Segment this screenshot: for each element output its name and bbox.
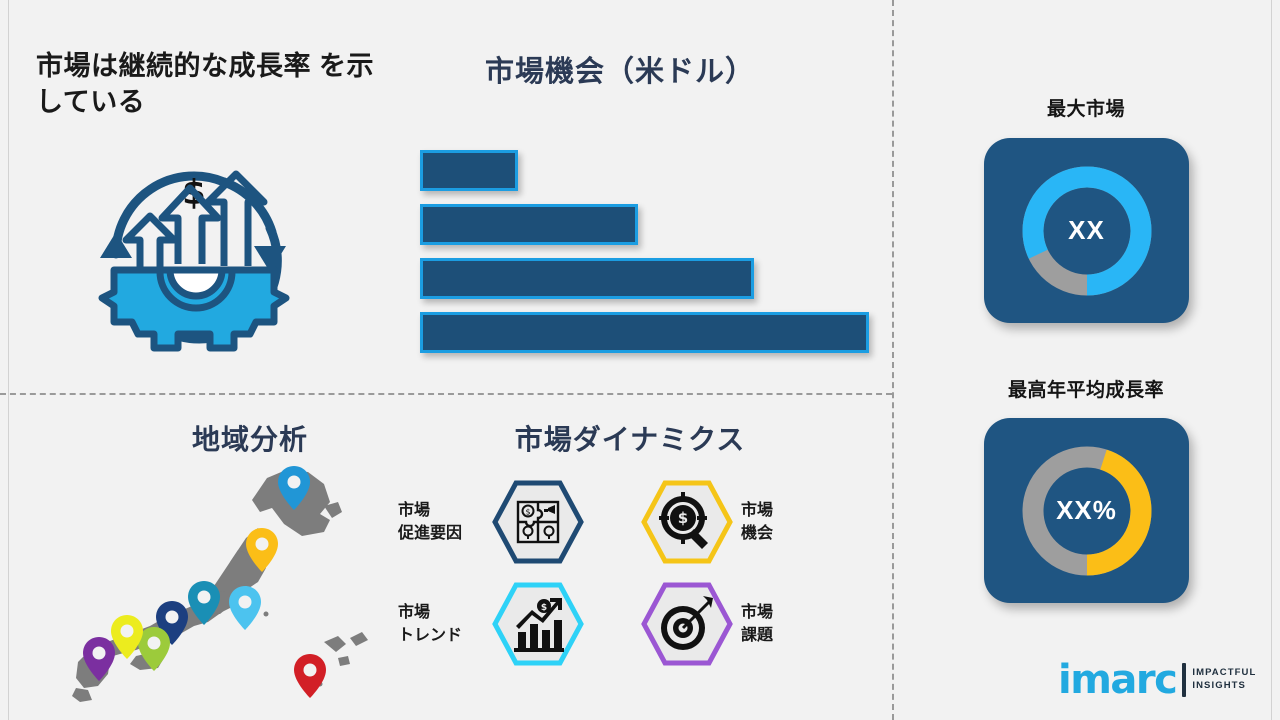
svg-text:$: $: [678, 509, 688, 527]
growth-title: 市場は継続的な成長率 を示している: [36, 48, 386, 121]
dynamics-title: 市場ダイナミクス: [450, 418, 810, 458]
puzzle-pieces-icon: $: [492, 480, 584, 564]
regional-title: 地域分析: [120, 418, 380, 458]
bar-chart-growth-icon: $: [492, 582, 584, 666]
kpi-label-largest-market: 最大市場: [936, 94, 1236, 121]
dynamics-item-drivers[interactable]: 市場 促進要因 $: [398, 480, 584, 564]
dynamics-label-challenges: 市場 課題: [741, 601, 827, 647]
japan-map: [62, 462, 382, 704]
svg-text:$: $: [525, 508, 530, 517]
map-pins: [83, 466, 326, 698]
slide-root: 市場は継続的な成長率 を示している $ 市場機会（米ドル）: [0, 0, 1280, 720]
bar-4: [420, 312, 869, 353]
dynamics-item-trends[interactable]: 市場 トレンド $: [398, 582, 584, 666]
kpi-label-highest-cagr: 最高年平均成長率: [936, 375, 1236, 402]
svg-text:$: $: [541, 603, 547, 613]
vertical-divider: [892, 0, 894, 720]
dynamics-item-opportunities[interactable]: $ 市場 機会: [641, 480, 827, 564]
bar-3: [420, 258, 754, 299]
imarc-wordmark: imarc: [1058, 660, 1176, 700]
opportunity-bar-chart: [420, 146, 880, 356]
tagline-line-1: IMPACTFUL: [1192, 667, 1256, 680]
opportunity-title: 市場機会（米ドル）: [410, 48, 830, 90]
kpi-card-highest-cagr: XX%: [984, 418, 1189, 603]
logo-divider-bar: [1182, 663, 1186, 697]
target-dart-icon: [641, 582, 733, 666]
dynamics-item-challenges[interactable]: 市場 課題: [641, 582, 827, 666]
tagline-line-2: INSIGHTS: [1192, 680, 1256, 693]
bar-2: [420, 204, 638, 245]
growth-gear-arrows-icon: $: [74, 136, 314, 368]
right-edge-rule: [1271, 0, 1272, 720]
magnifier-dollar-icon: $: [641, 480, 733, 564]
horizontal-divider: [0, 393, 892, 395]
dynamics-label-trends: 市場 トレンド: [398, 601, 484, 647]
imarc-tagline: IMPACTFUL INSIGHTS: [1192, 667, 1256, 693]
dynamics-grid: 市場 促進要因 $: [398, 480, 868, 680]
kpi-card-largest-market: XX: [984, 138, 1189, 323]
dynamics-label-opportunities: 市場 機会: [741, 499, 827, 545]
dynamics-label-drivers: 市場 促進要因: [398, 499, 484, 545]
imarc-logo[interactable]: imarc IMPACTFUL INSIGHTS: [1058, 660, 1256, 700]
bar-1: [420, 150, 518, 191]
left-edge-rule: [8, 0, 9, 720]
